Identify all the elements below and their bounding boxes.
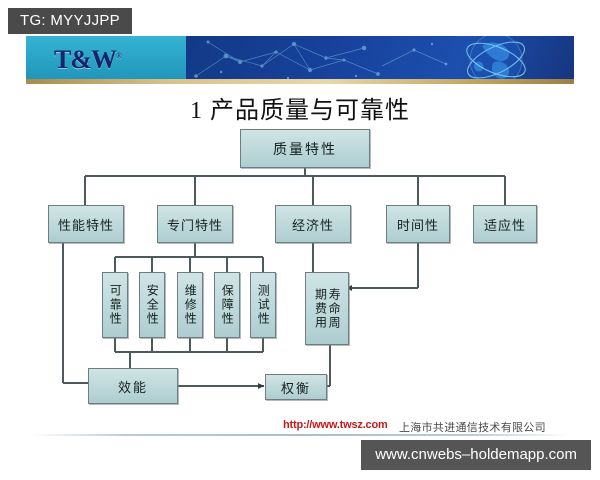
quality-characteristics-diagram: 质量特性 性能特性 专门特性 经济性 时间性 适应性 可靠性 安全性 维修性 保… [0,0,600,480]
life-cycle-cost-col-left: 期费用 [314,288,327,330]
slide-canvas: T&W® 1 产品质量与可靠性 [0,0,600,480]
node-adaptability[interactable]: 适应性 [473,205,537,243]
company-url[interactable]: http://www.twsz.com [283,419,388,431]
company-name: 上海市共进通信技术有限公司 [399,419,546,435]
node-specialty-characteristics[interactable]: 专门特性 [157,205,233,243]
node-economy[interactable]: 经济性 [275,205,351,243]
node-supportability[interactable]: 保障性 [214,272,240,338]
node-testability[interactable]: 测试性 [250,272,276,338]
node-time-property[interactable]: 时间性 [386,205,450,243]
node-quality-characteristics[interactable]: 质量特性 [240,129,370,168]
node-tradeoff[interactable]: 权衡 [265,374,327,400]
node-effectiveness[interactable]: 效能 [88,368,178,404]
node-performance-characteristics[interactable]: 性能特性 [48,205,124,243]
site-watermark: www.cnwebs–holdemapp.com [359,438,593,472]
node-maintainability[interactable]: 维修性 [177,272,203,338]
footer-rule [30,434,570,436]
node-safety[interactable]: 安全性 [139,272,165,338]
node-life-cycle-cost[interactable]: 寿命周 期费用 [305,272,349,345]
tg-overlay-label: TG: MYYJJPP [8,8,132,34]
node-reliability[interactable]: 可靠性 [102,272,128,338]
life-cycle-cost-col-right: 寿命周 [328,288,341,330]
